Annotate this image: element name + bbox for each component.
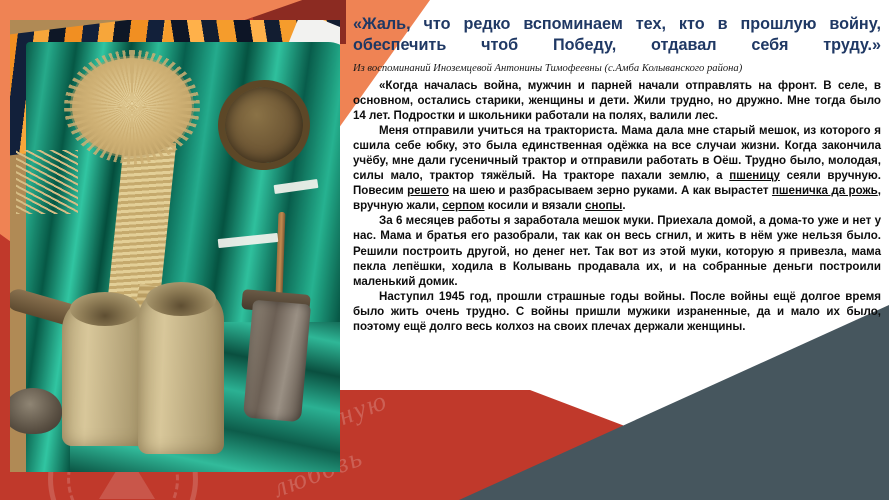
- loose-straw: [16, 150, 78, 214]
- wooden-bowl: [10, 388, 62, 434]
- memoir-paragraph-4: Наступил 1945 год, прошли страшные годы …: [353, 290, 881, 335]
- text-column: «Жаль, что редко вспоминаем тех, кто в п…: [353, 14, 881, 335]
- slide-canvas: М своего на родную любовь: [0, 0, 889, 500]
- photo-content: [10, 20, 340, 472]
- memoir-source-line: Из воспоминаний Иноземцевой Антонины Тим…: [353, 62, 881, 76]
- memoir-paragraph-2: Меня отправили учиться на тракториста. М…: [353, 124, 881, 215]
- memoir-paragraph-1: «Когда началась война, мужчин и парней н…: [353, 79, 881, 124]
- burlap-sack-left: [62, 296, 148, 446]
- museum-exhibit-photo: [10, 20, 340, 472]
- memoir-body: «Когда началась война, мужчин и парней н…: [353, 79, 881, 336]
- memoir-paragraph-3: За 6 месяцев работы я заработала мешок м…: [353, 214, 881, 289]
- wheat-sheaf-head: [72, 58, 192, 156]
- butter-churn: [243, 300, 311, 423]
- slide-title: «Жаль, что редко вспоминаем тех, кто в п…: [353, 14, 881, 56]
- burlap-sack-right: [138, 286, 224, 454]
